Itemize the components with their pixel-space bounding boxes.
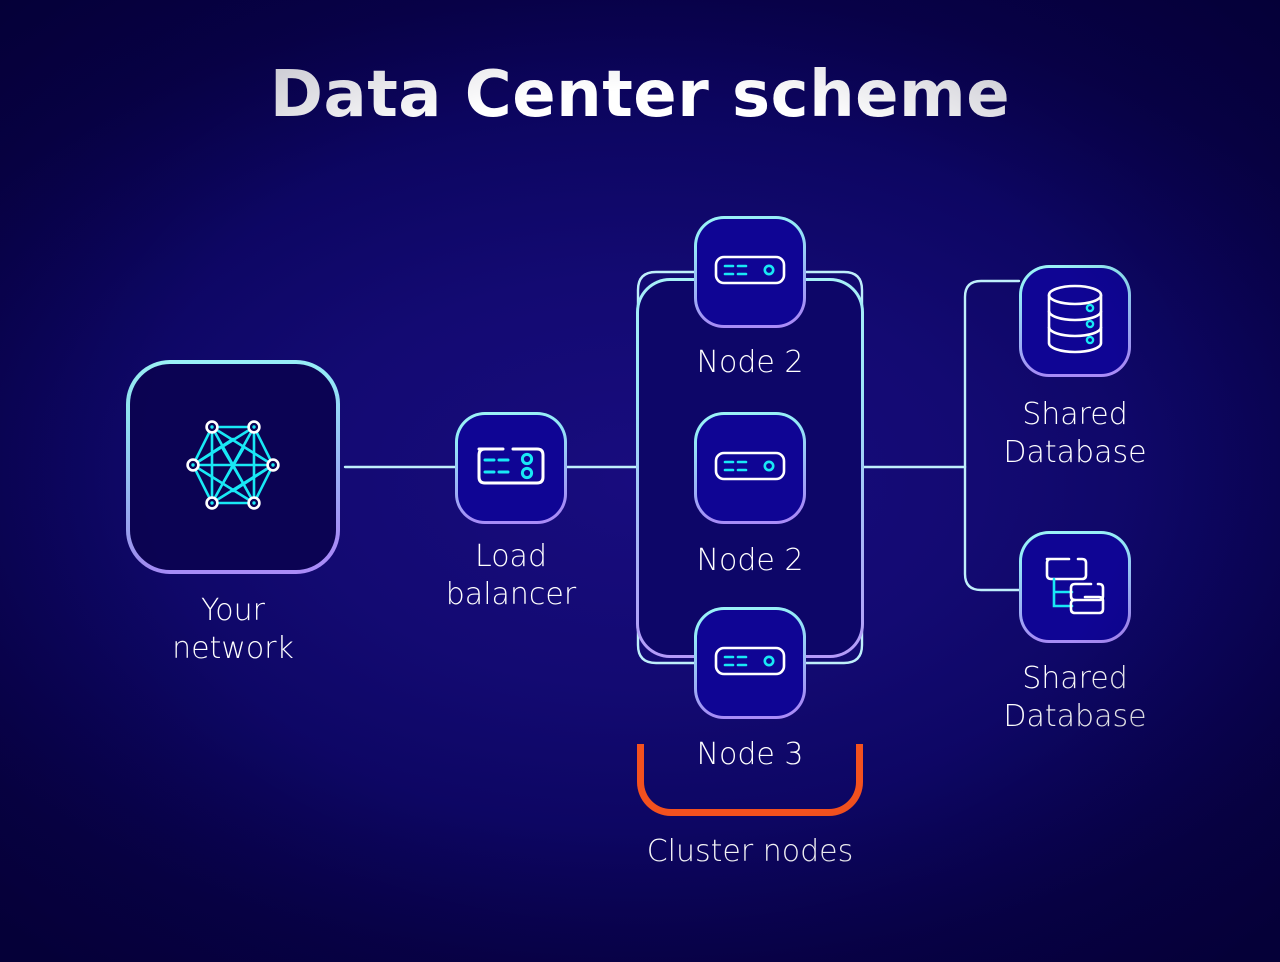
server-node-icon (714, 451, 786, 485)
shared-database-label-2: Shared Database (955, 660, 1195, 736)
cluster-node-card-1[interactable] (694, 216, 806, 328)
your-network-card[interactable] (126, 360, 340, 574)
server-rack-icon (473, 438, 549, 498)
mesh-network-icon (177, 409, 289, 525)
cluster-node-card-2[interactable] (694, 412, 806, 524)
database-cylinder-icon (1042, 283, 1108, 359)
your-network-label: Your network (113, 592, 353, 668)
cluster-node-card-3[interactable] (694, 607, 806, 719)
cluster-node-label-2: Node 2 (630, 542, 870, 580)
server-node-icon (714, 255, 786, 289)
cluster-node-label-1: Node 2 (630, 344, 870, 382)
wire-db-split-down (965, 467, 1019, 590)
cluster-nodes-bracket (637, 744, 863, 816)
load-balancer-label: Load balancer (395, 538, 627, 614)
shared-database-card-2[interactable] (1019, 531, 1131, 643)
server-node-icon (714, 646, 786, 680)
diagram-canvas: Data Center scheme (0, 0, 1280, 962)
shared-database-card-1[interactable] (1019, 265, 1131, 377)
page-title: Data Center scheme (0, 58, 1280, 132)
cluster-nodes-label: Cluster nodes (600, 833, 900, 871)
load-balancer-card[interactable] (455, 412, 567, 524)
shared-database-label-1: Shared Database (955, 396, 1195, 472)
hierarchy-tree-icon (1042, 554, 1108, 620)
